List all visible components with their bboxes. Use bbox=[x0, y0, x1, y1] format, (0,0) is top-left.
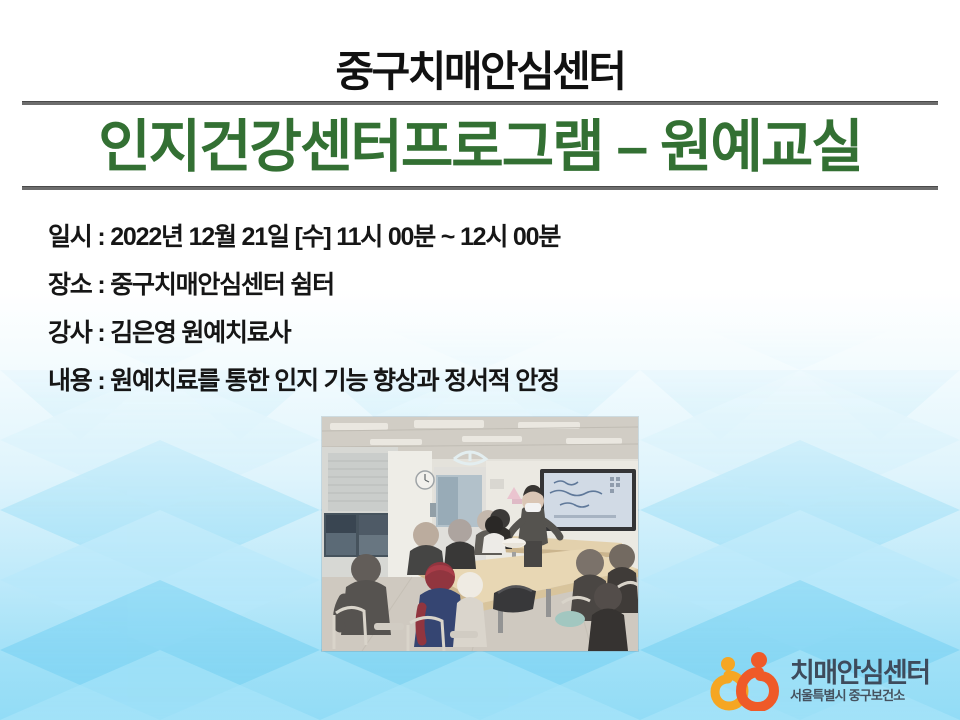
program-info-list: 일시 : 2022년 12월 21일 [수] 11시 00분 ~ 12시 00분… bbox=[48, 213, 560, 405]
logo-text-block: 치매안심센터 서울특별시 중구보건소 bbox=[790, 659, 929, 704]
center-logo: 치매안심센터 서울특별시 중구보건소 bbox=[706, 650, 952, 712]
logo-figures-icon bbox=[706, 651, 784, 711]
header-rule-bottom bbox=[22, 186, 938, 190]
logo-main-text: 치매안심센터 bbox=[790, 659, 929, 688]
info-line-instructor: 강사 : 김은영 원예치료사 bbox=[48, 309, 560, 357]
logo-sub-text: 서울특별시 중구보건소 bbox=[790, 688, 929, 704]
program-photo bbox=[322, 417, 638, 651]
info-line-location: 장소 : 중구치매안심센터 쉼터 bbox=[48, 261, 560, 309]
slide-canvas: 중구치매안심센터 인지건강센터프로그램 – 원예교실 일시 : 2022년 12… bbox=[0, 0, 960, 720]
info-line-content: 내용 : 원예치료를 통한 인지 기능 향상과 정서적 안정 bbox=[48, 357, 560, 405]
photo-illustration bbox=[322, 417, 638, 651]
header-rule-top bbox=[22, 101, 938, 105]
info-line-datetime: 일시 : 2022년 12월 21일 [수] 11시 00분 ~ 12시 00분 bbox=[48, 213, 560, 261]
organization-title: 중구치매안심센터 bbox=[0, 47, 960, 97]
page-title: 인지건강센터프로그램 – 원예교실 bbox=[0, 111, 960, 183]
